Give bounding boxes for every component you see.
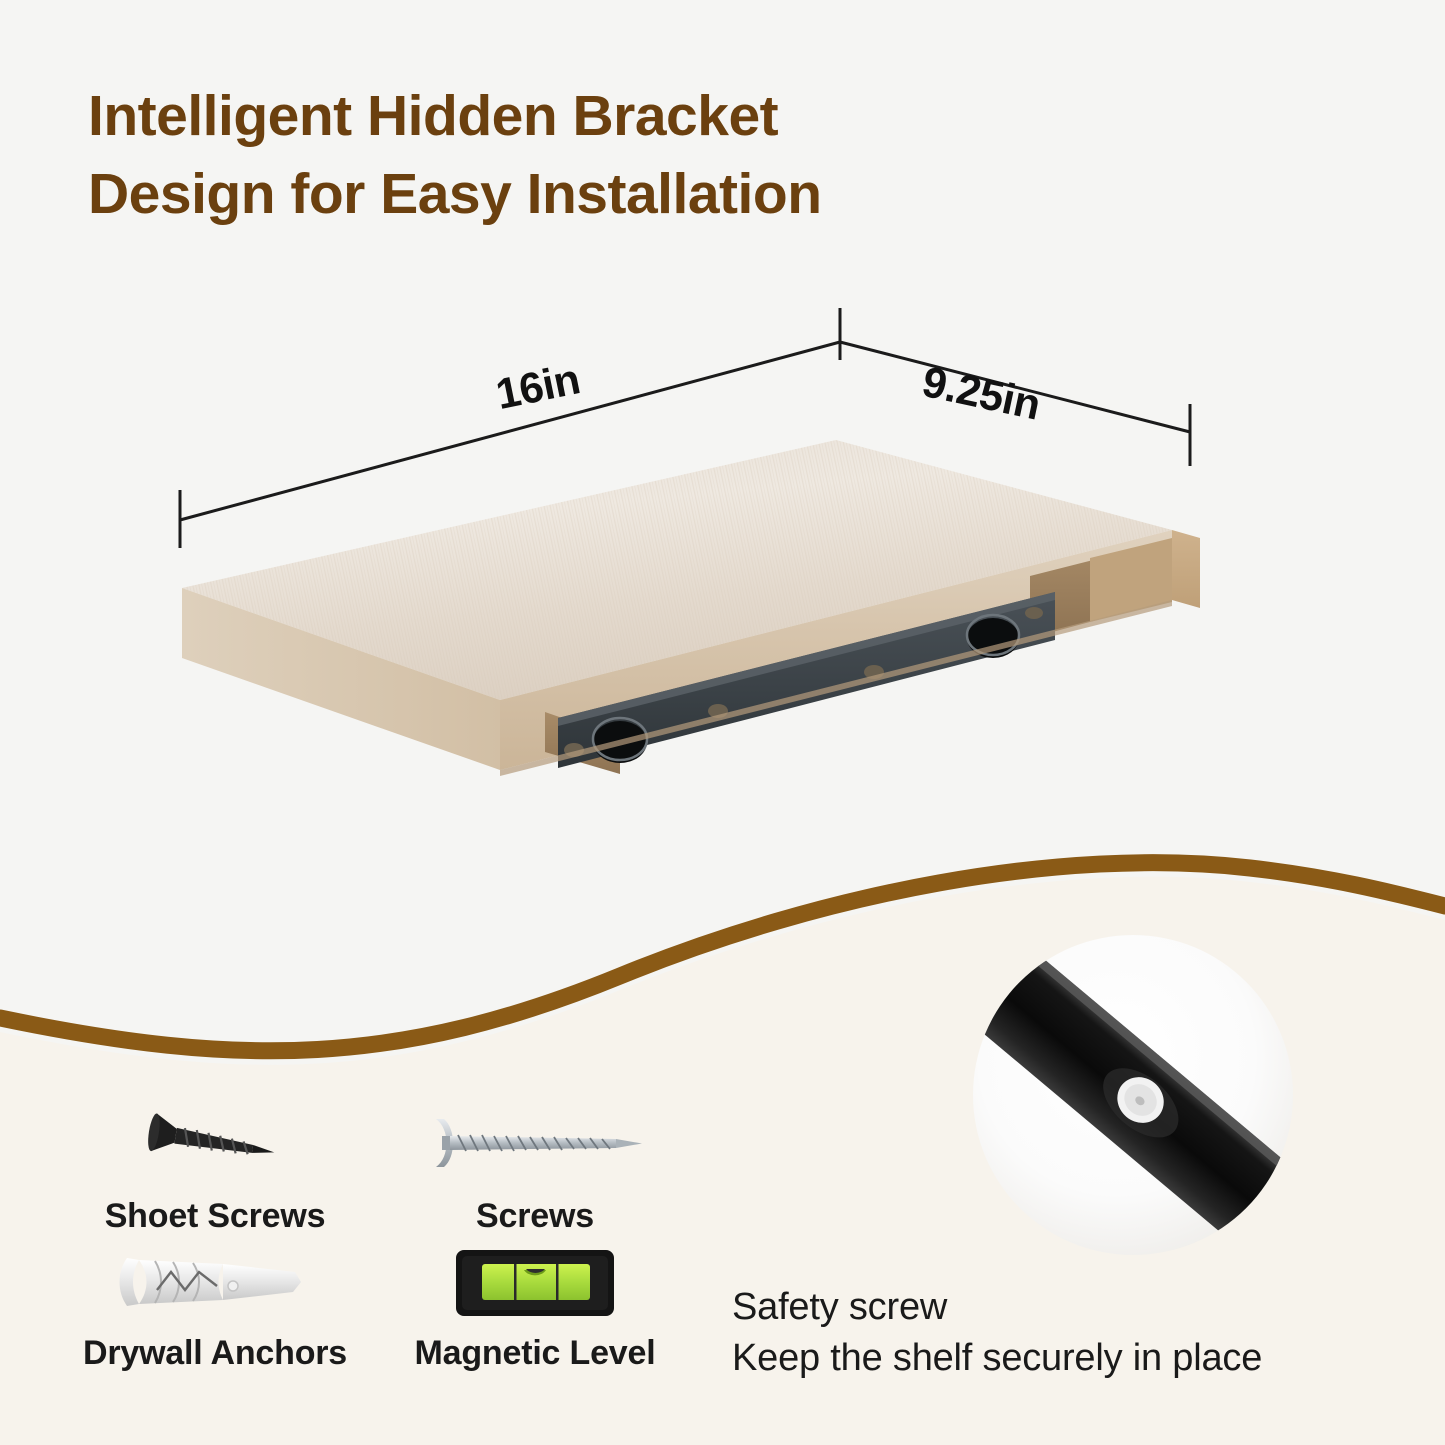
hardware-row-2: Drywall Anchors (55, 1236, 695, 1373)
shelf-svg (150, 300, 1220, 860)
product-infographic: Intelligent Hidden Bracket Design for Ea… (0, 0, 1445, 1445)
hardware-item-shoet-screws: Shoet Screws (55, 1095, 375, 1236)
shelf-illustration (150, 300, 1220, 860)
screw-tip (252, 1145, 275, 1156)
anchor-flange (120, 1258, 140, 1306)
level-mark-left (514, 1264, 517, 1300)
hardware-label: Drywall Anchors (83, 1334, 347, 1373)
hardware-item-drywall-anchors: Drywall Anchors (55, 1236, 375, 1373)
screw-tip (616, 1139, 642, 1148)
hardware-list: Shoet Screws (55, 1095, 695, 1373)
hardware-row-1: Shoet Screws (55, 1095, 695, 1236)
black-screw-icon (85, 1095, 345, 1191)
drywall-anchor-icon (85, 1236, 345, 1328)
magnetic-level-icon (405, 1236, 665, 1328)
page-title: Intelligent Hidden Bracket Design for Ea… (88, 78, 1188, 233)
anchor-bead (228, 1281, 238, 1291)
caption-title: Safety screw (732, 1282, 1432, 1333)
safety-screw-closeup (968, 930, 1298, 1260)
hardware-label: Shoet Screws (105, 1197, 326, 1236)
screw-neck (442, 1136, 450, 1150)
caption-subtitle: Keep the shelf securely in place (732, 1333, 1432, 1384)
safety-screw-caption: Safety screw Keep the shelf securely in … (732, 1282, 1432, 1385)
level-mark-right (556, 1264, 559, 1300)
bracket-small-hole-4 (1025, 607, 1043, 619)
hardware-label: Magnetic Level (415, 1334, 656, 1373)
hardware-label: Screws (476, 1197, 594, 1236)
hardware-item-screws: Screws (375, 1095, 695, 1236)
hardware-item-magnetic-level: Magnetic Level (375, 1236, 695, 1373)
silver-screw-icon (405, 1095, 665, 1191)
shelf-right-end (1172, 530, 1200, 608)
